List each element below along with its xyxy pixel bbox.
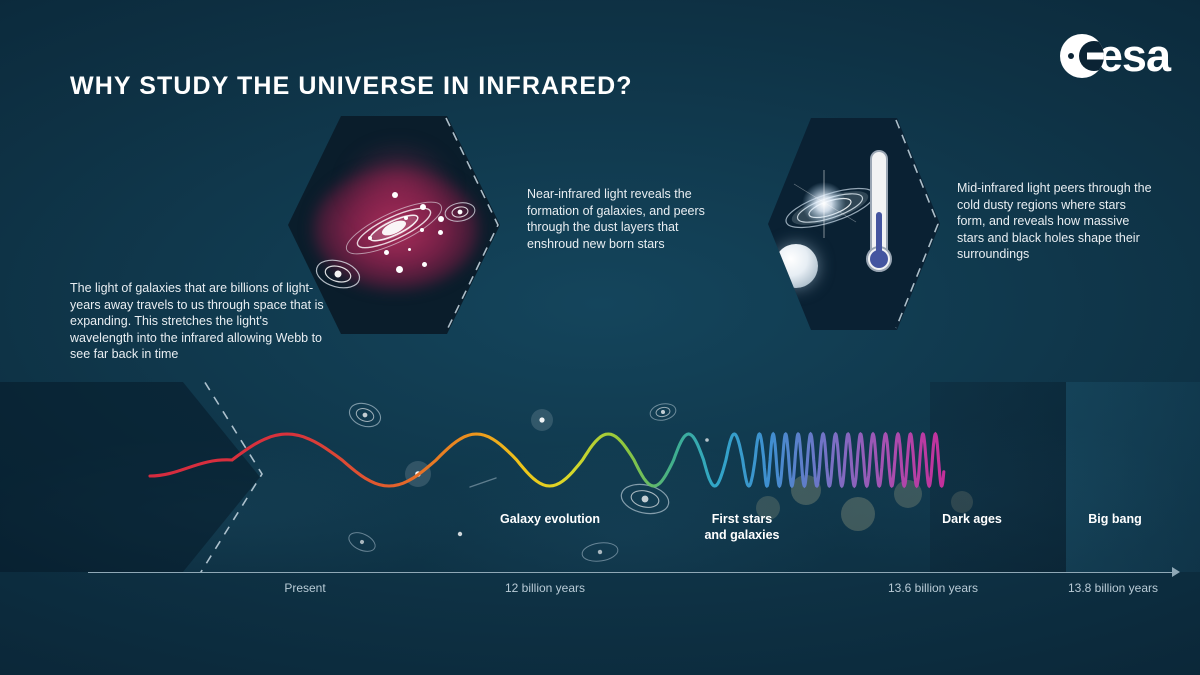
page-title: WHY STUDY THE UNIVERSE IN INFRARED? <box>70 72 633 101</box>
callout-near-infrared-text: Near-infrared light reveals the formatio… <box>527 186 719 252</box>
cosmic-timeline-band: Galaxy evolution First starsand galaxies… <box>0 382 1200 572</box>
tick-label-12-billion: 12 billion years <box>450 581 640 595</box>
arrow-right-icon <box>1172 567 1180 577</box>
tick-label-13-8-billion: 13.8 billion years <box>1030 581 1196 595</box>
callout-left-text: The light of galaxies that are billions … <box>70 280 332 363</box>
era-label-first-stars: First starsand galaxies <box>660 511 824 543</box>
esa-globe-icon <box>1060 34 1104 78</box>
mid-infrared-hexagon <box>768 118 940 330</box>
hexagon-dashed-edge <box>768 118 940 330</box>
timeline-axis <box>88 572 1178 573</box>
era-label-galaxy-evolution: Galaxy evolution <box>434 511 666 527</box>
tick-label-13-6-billion: 13.6 billion years <box>838 581 1028 595</box>
era-label-big-bang: Big bang <box>1040 511 1190 527</box>
light-wavelength-wave <box>0 382 1200 572</box>
esa-wordmark: esa <box>1098 36 1170 77</box>
tick-label-present: Present <box>235 581 375 595</box>
era-label-dark-ages: Dark ages <box>880 511 1064 527</box>
esa-logo: esa <box>1060 34 1170 78</box>
callout-mid-infrared-text: Mid-infrared light peers through the col… <box>957 180 1157 263</box>
